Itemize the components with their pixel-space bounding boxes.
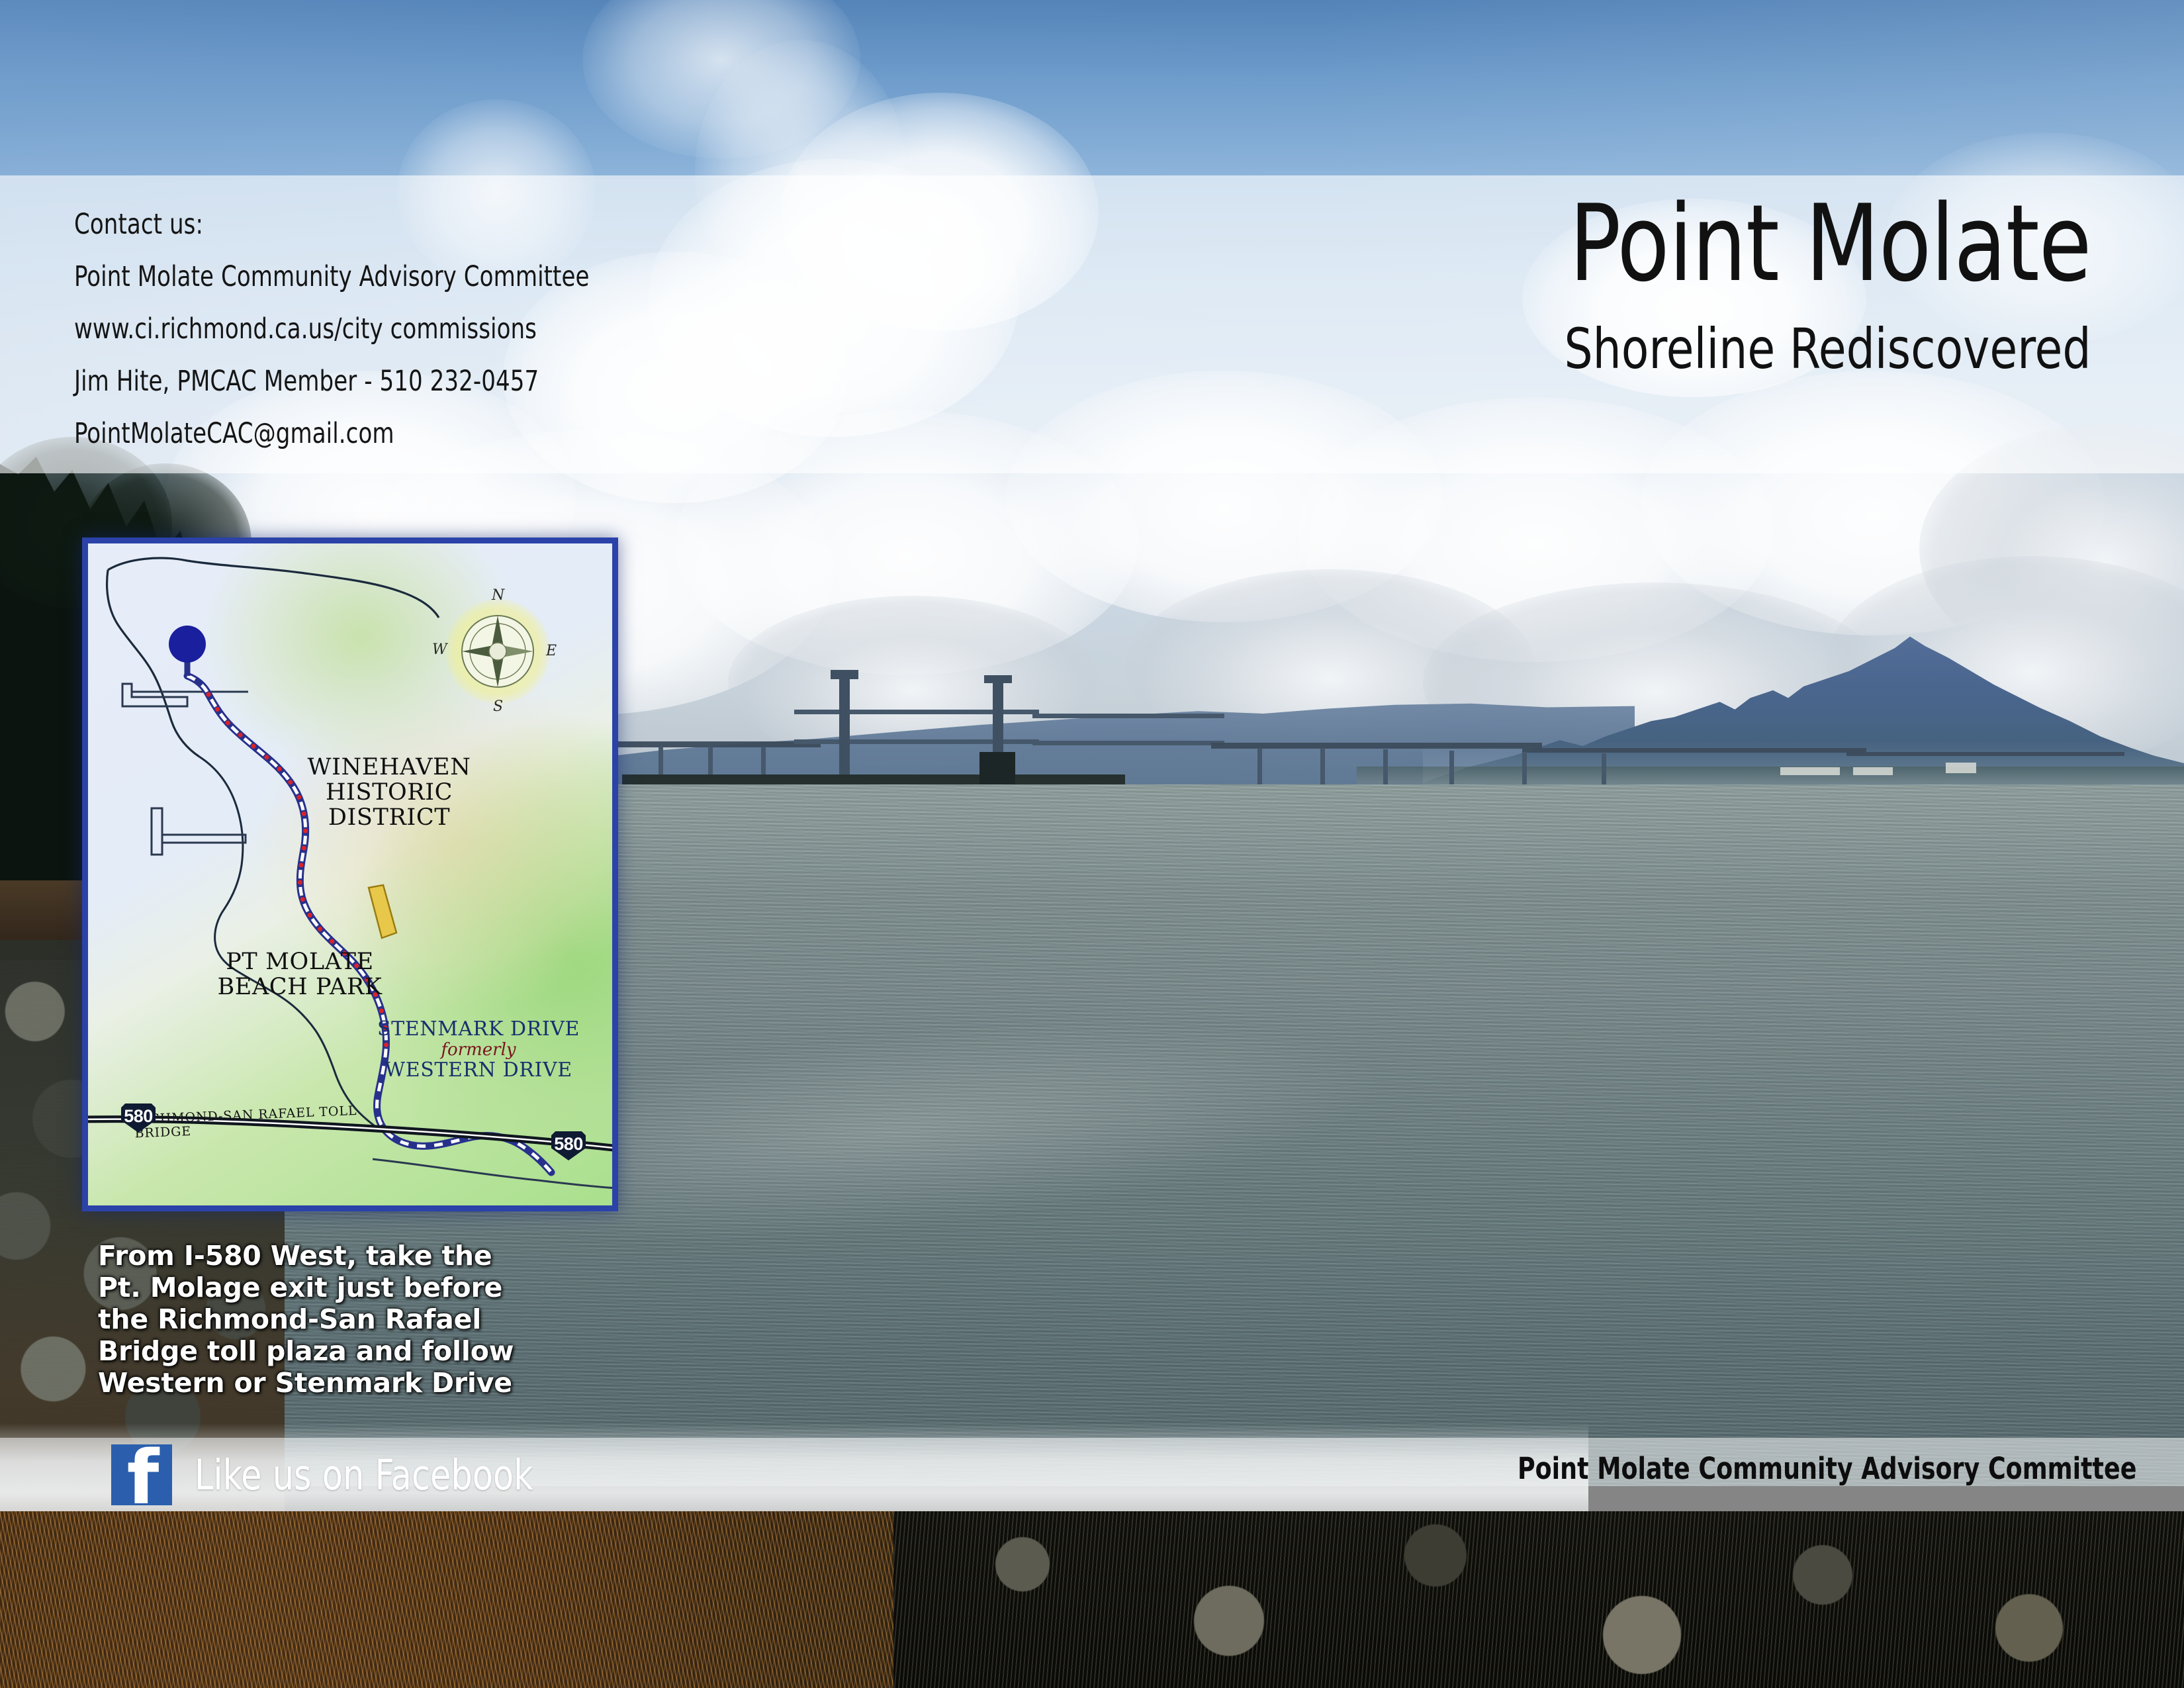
map-start-marker: [169, 626, 206, 663]
directions-line-4: Bridge toll plaza and follow: [98, 1335, 574, 1367]
winehaven-line-2: HISTORIC: [280, 780, 498, 806]
shoreline-building: [1780, 767, 1840, 775]
beach-park-line-2: BEACH PARK: [187, 975, 412, 1000]
route-stenmark-drive: [187, 676, 551, 1172]
driving-directions: From I-580 West, take the Pt. Molage exi…: [98, 1240, 574, 1399]
bridge-tower: [831, 670, 858, 679]
foreground-rocks: [893, 1511, 2184, 1688]
wharf-outline-north: [122, 684, 187, 706]
stenmark-line-1: STENMARK DRIVE: [346, 1019, 611, 1040]
directions-line-5: Western or Stenmark Drive: [98, 1367, 574, 1399]
beach-park-line-1: PT MOLATE: [187, 950, 412, 975]
contact-email[interactable]: PointMolateCAC@gmail.com: [74, 408, 715, 460]
bridge-deck: [1522, 748, 1866, 753]
compass-rose: N E S W: [445, 599, 550, 704]
facebook-label: Like us on Facebook: [195, 1451, 533, 1499]
winehaven-line-3: DISTRICT: [280, 806, 498, 831]
directions-line-3: the Richmond-San Rafael: [98, 1303, 574, 1335]
location-map[interactable]: N E S W WINEHAVEN HISTORIC DISTRICT PT M…: [82, 538, 618, 1211]
map-label-beach-park: PT MOLATE BEACH PARK: [187, 950, 412, 1000]
page-title: Point Molate: [1565, 187, 2091, 301]
dry-grass: [0, 1511, 960, 1688]
bridge-tower: [984, 675, 1012, 683]
contact-website[interactable]: www.ci.richmond.ca.us/city commissions: [74, 303, 715, 355]
compass-east-label: E: [546, 643, 557, 659]
facebook-icon[interactable]: f: [111, 1444, 172, 1505]
shoreline-building: [1946, 763, 1976, 773]
far-shoreline: [1357, 767, 2184, 784]
bridge-truss: [1032, 714, 1224, 745]
contact-person-phone: Jim Hite, PMCAC Member - 510 232-0457: [74, 355, 715, 408]
page-subtitle: Shoreline Rediscovered: [1565, 316, 2091, 381]
bridge-deck: [1846, 752, 2124, 756]
freeway-ramp: [373, 1159, 612, 1188]
map-label-stenmark-drive: STENMARK DRIVE formerly WESTERN DRIVE: [346, 1019, 611, 1082]
directions-line-2: Pt. Molage exit just before: [98, 1272, 574, 1303]
footer-credit: Point Molate Community Advisory Committe…: [1518, 1451, 2136, 1486]
compass-west-label: W: [432, 641, 447, 658]
title-block: Point Molate Shoreline Rediscovered: [1506, 187, 2091, 381]
winehaven-line-1: WINEHAVEN: [280, 755, 498, 780]
wharf-outline-south: [152, 808, 162, 855]
route-dash-overlay: [187, 676, 551, 1172]
stenmark-line-2: WESTERN DRIVE: [346, 1060, 611, 1081]
directions-line-1: From I-580 West, take the: [98, 1240, 574, 1272]
contact-block: Contact us: Point Molate Community Advis…: [74, 199, 802, 460]
contact-heading: Contact us:: [74, 199, 715, 251]
coastline-north: [108, 558, 439, 618]
compass-south-label: S: [493, 698, 503, 715]
beach-park-polygon: [369, 885, 396, 938]
compass-north-label: N: [492, 587, 504, 604]
shoreline-building: [1853, 767, 1893, 775]
map-label-winehaven: WINEHAVEN HISTORIC DISTRICT: [280, 755, 498, 830]
facebook-link[interactable]: f Like us on Facebook: [111, 1444, 571, 1505]
compass-rose-icon: [445, 599, 550, 704]
facebook-glyph: f: [127, 1447, 159, 1509]
contact-organization: Point Molate Community Advisory Committe…: [74, 251, 715, 303]
stenmark-formerly: formerly: [346, 1041, 611, 1059]
poster-canvas: Contact us: Point Molate Community Advis…: [0, 0, 2184, 1688]
